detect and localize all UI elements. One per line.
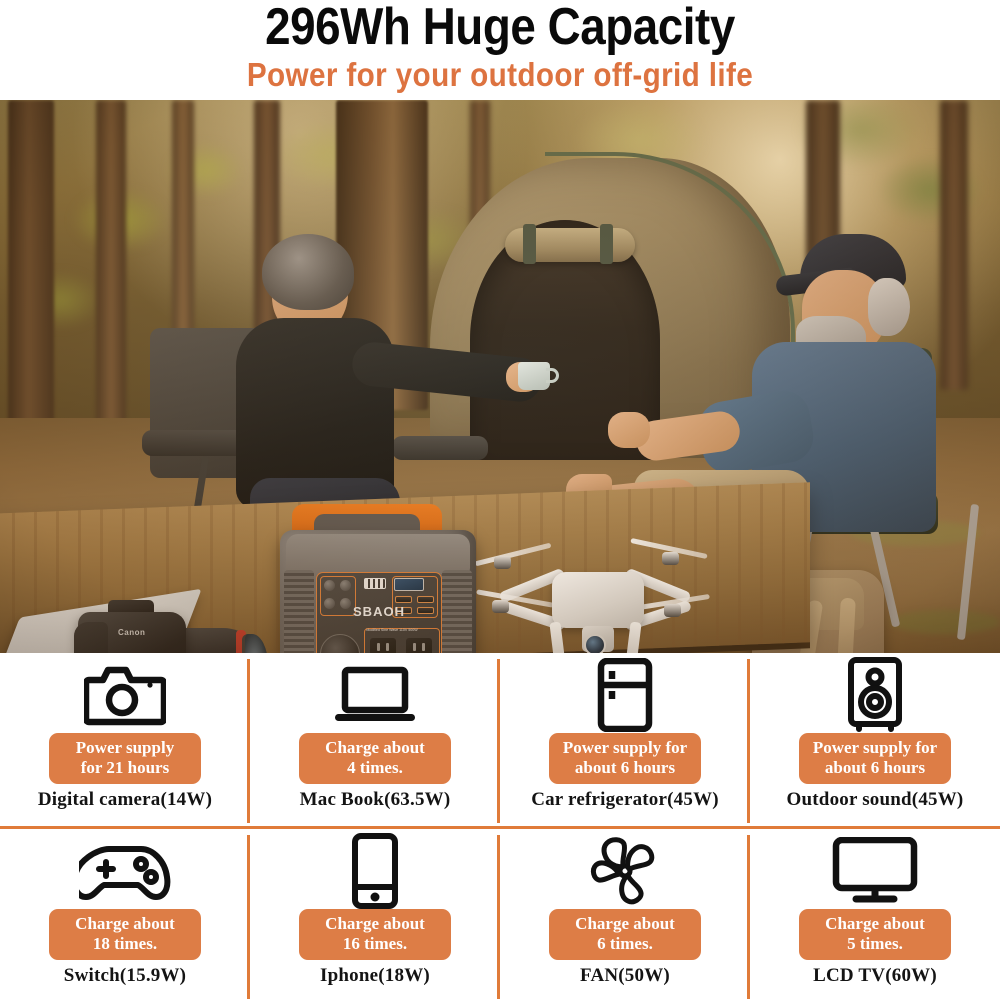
device-caption: Switch(15.9W) xyxy=(64,965,186,987)
device-badge: Power supply for about 6 hours xyxy=(549,733,701,784)
power-station-brand: SBAOH xyxy=(318,604,440,619)
badge-line-2: 5 times. xyxy=(847,934,903,953)
device-caption: FAN(50W) xyxy=(580,965,670,987)
device-row-top: Power supply for 21 hours Digital camera… xyxy=(0,653,1000,826)
device-caption: Outdoor sound(45W) xyxy=(787,789,964,811)
device-badge: Charge about 6 times. xyxy=(549,909,701,960)
page-subtitle: Power for your outdoor off-grid life xyxy=(50,56,950,94)
badge-line-1: Power supply xyxy=(76,738,174,757)
badge-line-1: Charge about xyxy=(825,914,925,933)
power-station-ac-outlet[interactable] xyxy=(370,638,396,653)
device-cell-mac-book[interactable]: Charge about 4 times. Mac Book(63.5W) xyxy=(250,653,500,826)
refrigerator-icon xyxy=(597,658,653,732)
device-cell-switch[interactable]: Charge about 18 times. Switch(15.9W) xyxy=(0,829,250,1002)
badge-line-1: Power supply for xyxy=(813,738,937,757)
drone-body xyxy=(552,572,644,628)
power-station-button[interactable] xyxy=(324,580,335,591)
badge-line-1: Charge about xyxy=(325,914,425,933)
badge-line-1: Charge about xyxy=(325,738,425,757)
drone xyxy=(480,534,710,653)
power-station-display xyxy=(394,578,424,591)
device-cell-outdoor-sound[interactable]: Power supply for about 6 hours Outdoor s… xyxy=(750,653,1000,826)
badge-line-2: about 6 hours xyxy=(825,758,925,777)
badge-line-2: 18 times. xyxy=(93,934,157,953)
camera-grip xyxy=(74,622,108,653)
camera-brand-text: Canon xyxy=(118,628,145,637)
badge-line-1: Charge about xyxy=(575,914,675,933)
portable-power-station: SBAOH Modified Sine Wave 110V 500W xyxy=(272,504,482,653)
header-banner: 296Wh Huge Capacity Power for your outdo… xyxy=(0,0,1000,100)
device-caption: Digital camera(14W) xyxy=(38,789,212,811)
folding-chair-left-armrest xyxy=(392,436,488,460)
power-station-usb-port[interactable] xyxy=(417,596,434,603)
power-station-panel-label: Modified Sine Wave 110V 500W xyxy=(344,628,440,632)
power-station-button[interactable] xyxy=(340,580,351,591)
device-badge: Power supply for 21 hours xyxy=(49,733,201,784)
power-station-vent xyxy=(442,570,472,653)
speaker-icon xyxy=(847,658,903,732)
grass-patch xyxy=(890,610,1000,634)
gamepad-icon xyxy=(79,834,171,908)
tv-icon xyxy=(832,834,918,908)
drone-motor xyxy=(662,552,679,565)
power-station-vent xyxy=(284,570,314,653)
laptop-icon xyxy=(333,658,417,732)
device-cell-car-refrigerator[interactable]: Power supply for about 6 hours Car refri… xyxy=(500,653,750,826)
device-caption: LCD TV(60W) xyxy=(813,965,937,987)
power-station-ac-outlet[interactable] xyxy=(406,638,432,653)
device-cell-lcd-tv[interactable]: Charge about 5 times. LCD TV(60W) xyxy=(750,829,1000,1002)
drone-propeller xyxy=(475,543,552,567)
fan-icon xyxy=(587,834,663,908)
device-caption: Car refrigerator(45W) xyxy=(531,789,719,811)
device-cell-fan[interactable]: Charge about 6 times. FAN(50W) xyxy=(500,829,750,1002)
man-hair xyxy=(868,278,910,336)
drone-motor xyxy=(494,556,511,569)
page-title: 296Wh Huge Capacity xyxy=(60,0,940,56)
tree-trunk xyxy=(96,100,126,430)
tree-trunk xyxy=(940,100,968,390)
woman-hair xyxy=(262,234,354,310)
badge-line-2: 16 times. xyxy=(343,934,407,953)
device-caption: Mac Book(63.5W) xyxy=(300,789,451,811)
hero-photo: Canon SBAOH Modified Sine Wave 110V 500W xyxy=(0,100,1000,653)
drone-camera-lens xyxy=(584,634,606,653)
tree-trunk xyxy=(8,100,54,440)
device-badge: Power supply for about 6 hours xyxy=(799,733,951,784)
man-hand xyxy=(608,412,650,448)
drone-motor xyxy=(664,604,681,617)
tent-strap xyxy=(523,224,536,264)
badge-line-1: Power supply for xyxy=(563,738,687,757)
compatible-devices-grid: Power supply for 21 hours Digital camera… xyxy=(0,653,1000,1000)
device-badge: Charge about 16 times. xyxy=(299,909,451,960)
drone-motor xyxy=(492,600,509,613)
badge-line-1: Charge about xyxy=(75,914,175,933)
device-badge: Charge about 5 times. xyxy=(799,909,951,960)
badge-line-2: 6 times. xyxy=(597,934,653,953)
device-caption: Iphone(18W) xyxy=(320,965,430,987)
device-badge: Charge about 18 times. xyxy=(49,909,201,960)
device-badge: Charge about 4 times. xyxy=(299,733,451,784)
device-cell-digital-camera[interactable]: Power supply for 21 hours Digital camera… xyxy=(0,653,250,826)
badge-line-2: for 21 hours xyxy=(81,758,169,777)
camera-icon xyxy=(84,658,166,732)
badge-line-2: 4 times. xyxy=(347,758,403,777)
device-row-bottom: Charge about 18 times. Switch(15.9W) Cha… xyxy=(0,829,1000,1002)
power-station-usb-port[interactable] xyxy=(395,596,412,603)
power-station-battery-indicator xyxy=(364,578,386,589)
power-station-top-shell xyxy=(286,534,470,574)
device-cell-iphone[interactable]: Charge about 16 times. Iphone(18W) xyxy=(250,829,500,1002)
badge-line-2: about 6 hours xyxy=(575,758,675,777)
smartphone-icon xyxy=(351,834,399,908)
